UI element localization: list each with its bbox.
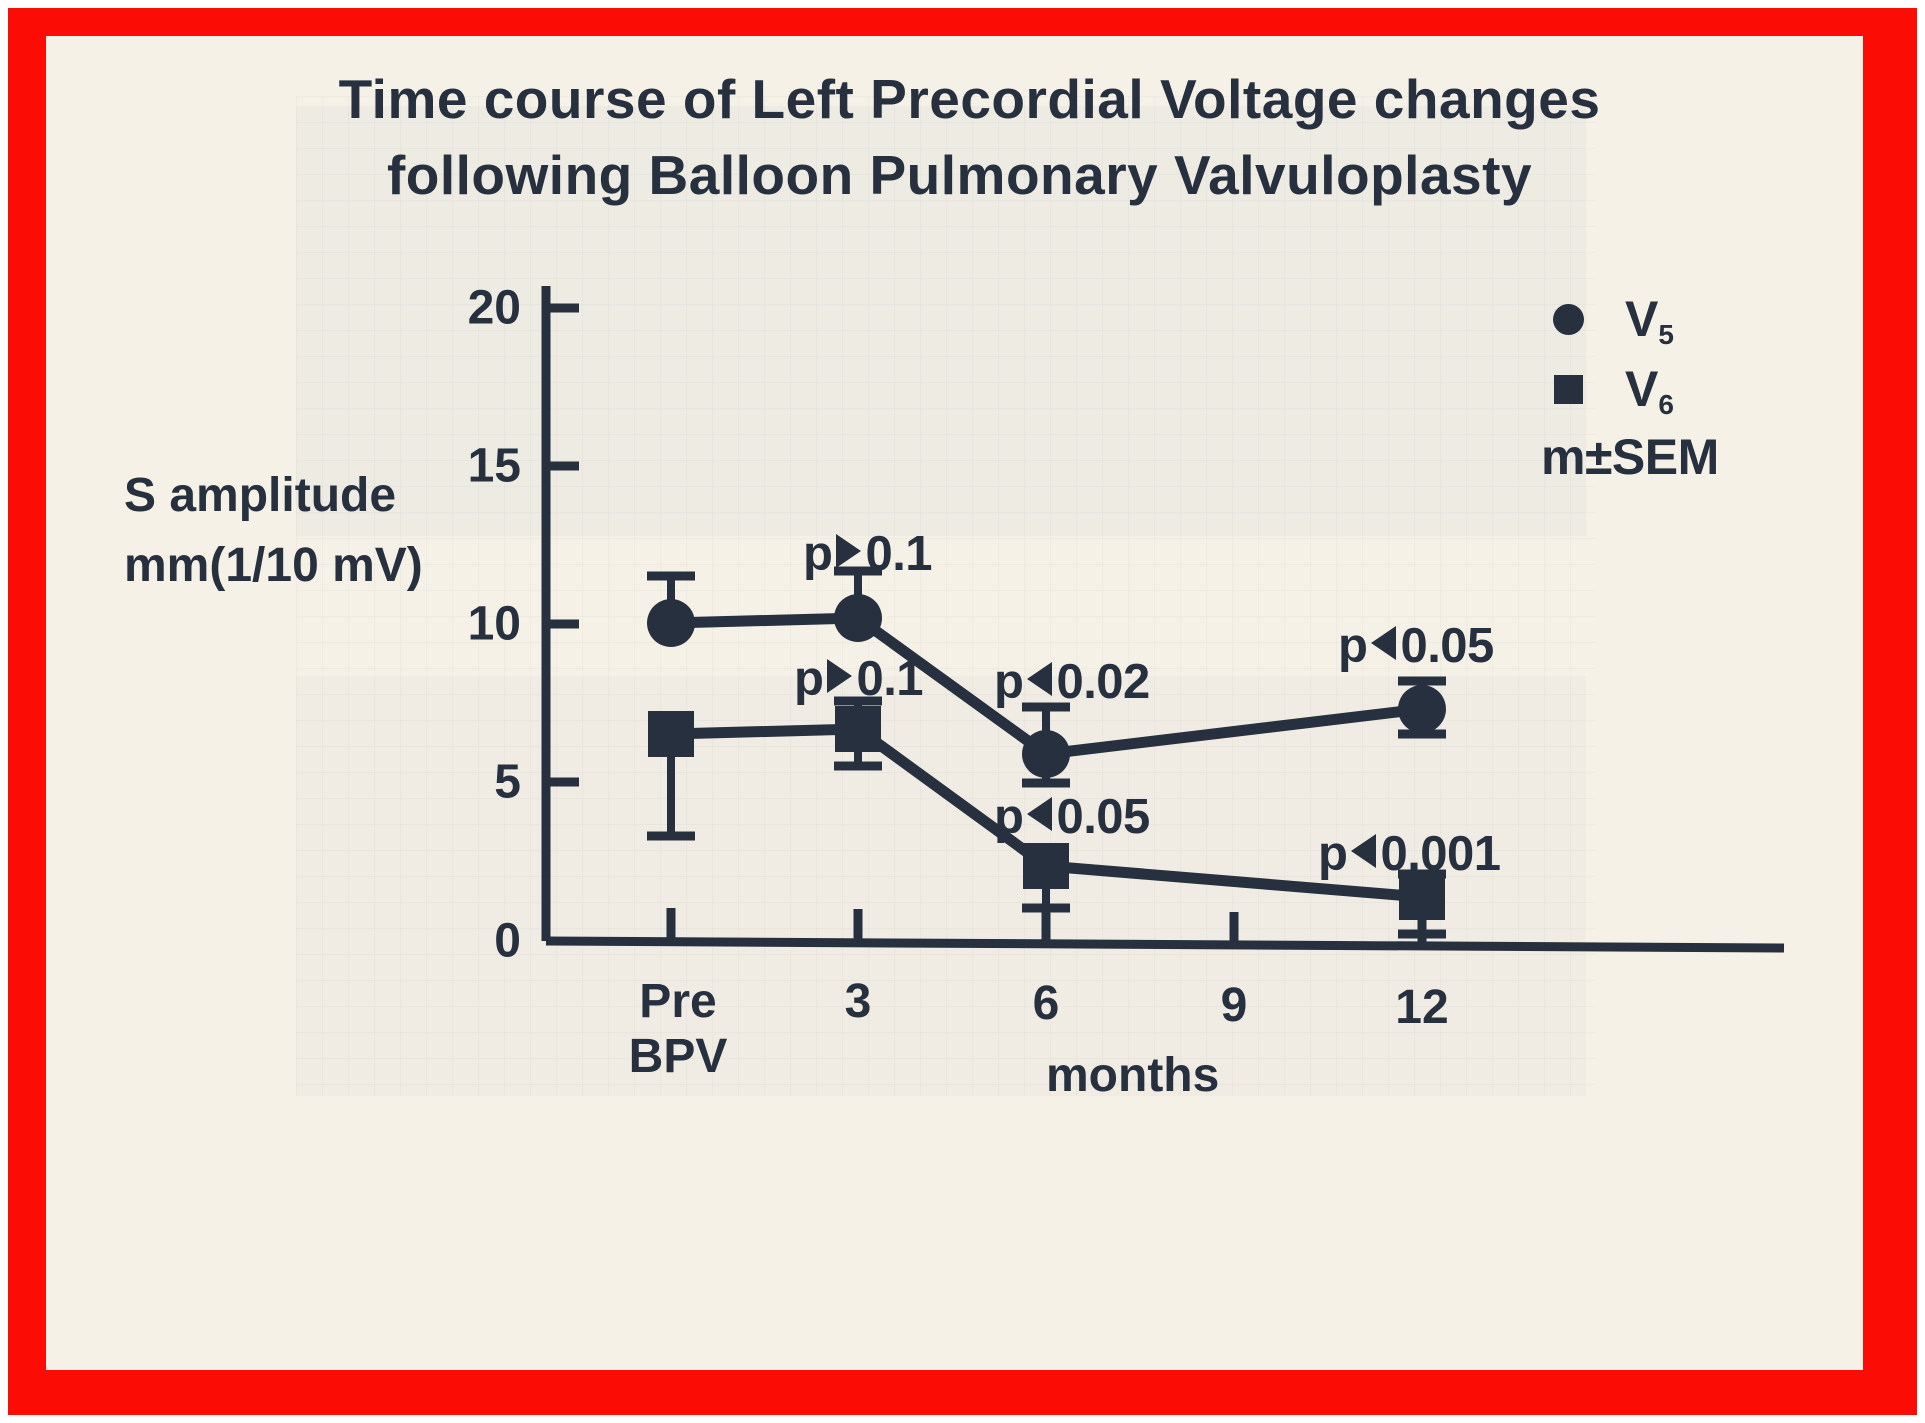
- filled-square-icon: [1541, 375, 1595, 404]
- greater-than-icon: [836, 534, 861, 568]
- x-tick-label-pre-line-2: BPV: [629, 1029, 728, 1084]
- plot-area: 20 15 10 5 0 Pre BPV 3 6 9 12 months: [46, 36, 1863, 1370]
- slide-canvas: Time course of Left Precordial Voltage c…: [0, 0, 1925, 1423]
- legend-label-v5-text: V: [1625, 291, 1658, 347]
- y-tick-label-10: 10: [401, 597, 521, 652]
- annotation-p-value: 0.05: [1056, 790, 1149, 844]
- less-than-icon: [1351, 834, 1376, 868]
- annotation-p-v6-3mo: p0.1: [794, 651, 923, 707]
- filled-circle-icon: [1541, 304, 1595, 335]
- y-tick-label-0: 0: [401, 914, 521, 969]
- legend-label-v5: V5: [1625, 290, 1674, 348]
- x-tick-label-9: 9: [1221, 978, 1248, 1033]
- less-than-icon: [1371, 626, 1396, 660]
- annotation-p-v6-12mo: p0.001: [1318, 826, 1501, 882]
- x-tick-label-6: 6: [1033, 976, 1060, 1031]
- x-tick-label-pre: Pre BPV: [629, 974, 728, 1084]
- annotation-p-letter: p: [1318, 827, 1347, 881]
- chart-svg: [46, 36, 1863, 1370]
- annotation-p-letter: p: [994, 790, 1023, 844]
- x-tick-label-12-text: 12: [1395, 980, 1448, 1035]
- annotation-p-value: 0.1: [865, 527, 932, 581]
- annotation-p-v5-6mo: p0.02: [994, 654, 1150, 710]
- v6-point-pre: [648, 711, 694, 757]
- v6-point-6mo: [1023, 843, 1069, 889]
- figure-panel: Time course of Left Precordial Voltage c…: [46, 36, 1863, 1370]
- v5-point-12mo: [1398, 685, 1446, 733]
- legend-label-v6-text: V: [1625, 361, 1658, 417]
- legend-label-v6-sub: 6: [1658, 389, 1674, 420]
- x-tick-label-6-text: 6: [1033, 976, 1060, 1031]
- annotation-p-value: 0.001: [1380, 827, 1500, 881]
- annotation-p-letter: p: [794, 652, 823, 706]
- annotation-p-value: 0.05: [1400, 619, 1493, 673]
- less-than-icon: [1027, 662, 1052, 696]
- annotation-p-v5-3mo: p0.1: [803, 526, 932, 582]
- annotation-p-letter: p: [994, 655, 1023, 709]
- x-axis-line: [546, 941, 1784, 948]
- legend-label-v6: V6: [1625, 360, 1674, 418]
- legend-item-v6: V6: [1541, 358, 1719, 420]
- x-axis-label: months: [1046, 1048, 1219, 1103]
- annotation-p-value: 0.02: [1056, 655, 1149, 709]
- v5-point-pre: [647, 599, 695, 647]
- legend-sem-note: m±SEM: [1541, 428, 1719, 486]
- x-tick-label-3-text: 3: [845, 974, 872, 1029]
- x-tick-label-12: 12: [1395, 980, 1448, 1035]
- x-tick-label-pre-line-1: Pre: [629, 974, 728, 1029]
- x-tick-label-3: 3: [845, 974, 872, 1029]
- y-tick-label-15: 15: [401, 439, 521, 494]
- y-tick-label-5: 5: [401, 755, 521, 810]
- chart-legend: V5 V6 m±SEM: [1541, 288, 1719, 486]
- v5-point-6mo: [1022, 730, 1070, 778]
- annotation-p-letter: p: [803, 527, 832, 581]
- less-than-icon: [1027, 797, 1052, 831]
- v6-point-3mo: [835, 706, 881, 752]
- annotation-p-v6-6mo: p0.05: [994, 789, 1150, 845]
- legend-label-v5-sub: 5: [1658, 319, 1674, 350]
- annotation-p-v5-12mo: p0.05: [1338, 618, 1494, 674]
- legend-item-v5: V5: [1541, 288, 1719, 350]
- x-tick-label-9-text: 9: [1221, 978, 1248, 1033]
- greater-than-icon: [827, 659, 852, 693]
- y-tick-label-20: 20: [401, 281, 521, 336]
- annotation-p-value: 0.1: [856, 652, 923, 706]
- v5-point-3mo: [834, 594, 882, 642]
- annotation-p-letter: p: [1338, 619, 1367, 673]
